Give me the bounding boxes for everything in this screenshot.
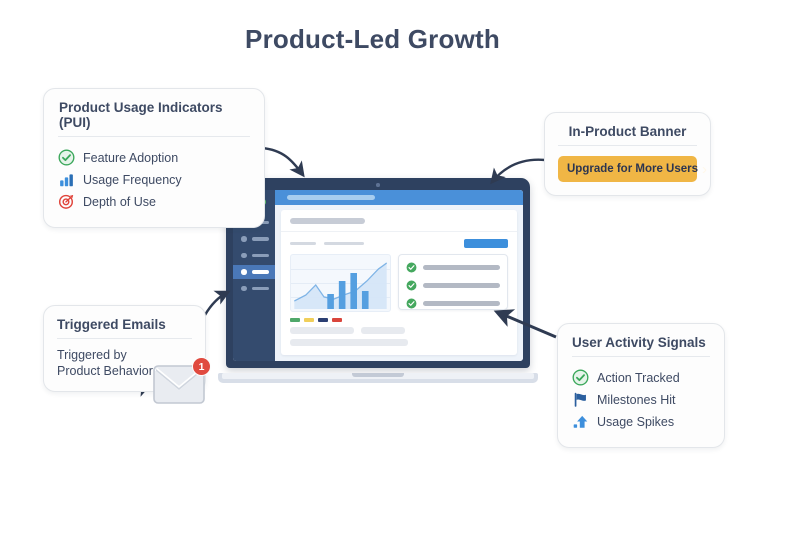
card-title: Product Usage Indicators (PUI) [58, 100, 250, 137]
pui-item-depth-of-use[interactable]: Depth of Use [58, 193, 250, 210]
card-title: Triggered Emails [57, 317, 192, 339]
nav-label-placeholder [252, 254, 270, 258]
checklist-text-placeholder [423, 283, 500, 288]
signal-item-action-tracked[interactable]: Action Tracked [572, 369, 710, 386]
chevron-right-icon: › [702, 161, 707, 178]
triggered-line-1: Triggered by [57, 347, 162, 363]
page-header [281, 210, 517, 232]
app-content [275, 190, 523, 361]
app-page [281, 210, 517, 355]
sidebar-item-2[interactable] [233, 232, 275, 246]
chart-bar-2 [339, 281, 346, 309]
page-footer-placeholders [281, 322, 517, 346]
signal-item-label: Action Tracked [597, 371, 680, 385]
laptop-base-notch [352, 373, 404, 377]
pui-item-usage-frequency[interactable]: Usage Frequency [58, 171, 250, 188]
checklist-panel [398, 254, 508, 310]
laptop-screen [233, 190, 523, 361]
nav-label-placeholder [252, 237, 270, 241]
nav-label-placeholder [252, 270, 270, 274]
check-circle-icon [58, 149, 75, 166]
chart-bar-1 [327, 294, 334, 309]
card-product-usage-indicators: Product Usage Indicators (PUI) Feature A… [43, 88, 265, 228]
sidebar-item-4-active[interactable] [233, 265, 275, 279]
footer-placeholder-1 [290, 327, 354, 334]
laptop-lid [226, 178, 530, 368]
arrow-up-icon [572, 413, 589, 430]
card-user-activity-signals: User Activity Signals Action Tracked Mil… [557, 323, 725, 448]
email-badge-count: 1 [192, 357, 211, 376]
nav-dot-icon [241, 236, 247, 242]
bar-chart-icon [58, 171, 75, 188]
sidebar-item-5[interactable] [233, 282, 275, 296]
card-in-product-banner: In-Product Banner Upgrade for More Users… [544, 112, 711, 196]
pui-item-label: Depth of Use [83, 195, 156, 209]
pui-item-label: Usage Frequency [83, 173, 182, 187]
chart-legend [281, 312, 517, 322]
chart-bar-3 [350, 273, 357, 309]
topbar-title-placeholder [287, 195, 375, 200]
breadcrumb-placeholder-1 [290, 242, 316, 246]
laptop-mockup [218, 178, 538, 383]
triggered-emails-description: Triggered by Product Behavior [57, 339, 162, 379]
check-circle-icon [572, 369, 589, 386]
upgrade-button-label: Upgrade for More Users [567, 163, 698, 175]
nav-label-placeholder [252, 287, 270, 291]
card-body: Feature Adoption Usage Frequency Depth o… [58, 137, 250, 210]
dashboard-panels [281, 252, 517, 312]
check-circle-icon [406, 298, 417, 309]
card-title: User Activity Signals [572, 335, 710, 357]
laptop-camera-icon [376, 183, 380, 187]
pui-item-feature-adoption[interactable]: Feature Adoption [58, 149, 250, 166]
checklist-item[interactable] [406, 262, 500, 273]
checklist-item[interactable] [406, 280, 500, 291]
checklist-item[interactable] [406, 298, 500, 309]
primary-action-button[interactable] [464, 239, 508, 248]
breadcrumb-placeholder-2 [324, 242, 364, 246]
checklist-text-placeholder [423, 301, 500, 306]
upgrade-for-more-users-button[interactable]: Upgrade for More Users › [558, 156, 697, 182]
arrow-pui-to-laptop [262, 148, 303, 175]
infographic-canvas: Product-Led Growth [0, 0, 800, 533]
checklist-text-placeholder [423, 265, 500, 270]
signal-item-label: Milestones Hit [597, 393, 676, 407]
signal-item-milestones-hit[interactable]: Milestones Hit [572, 391, 710, 408]
email-notification[interactable]: 1 [152, 362, 208, 408]
sidebar-item-3[interactable] [233, 249, 275, 263]
page-heading-placeholder [290, 218, 365, 224]
flag-icon [572, 391, 589, 408]
footer-placeholder-3 [290, 339, 408, 346]
analytics-chart [290, 254, 391, 312]
nav-dot-icon [241, 286, 247, 292]
page-title: Product-Led Growth [0, 24, 745, 55]
footer-placeholder-2 [361, 327, 405, 334]
page-subheader [281, 232, 517, 252]
triggered-line-2: Product Behavior [57, 363, 162, 379]
chart-bar-4 [362, 291, 369, 309]
signal-item-label: Usage Spikes [597, 415, 674, 429]
pui-item-label: Feature Adoption [83, 151, 178, 165]
card-body: Action Tracked Milestones Hit Usage Spik… [572, 357, 710, 430]
check-circle-icon [406, 280, 417, 291]
app-topbar [275, 190, 523, 205]
nav-dot-icon [241, 269, 247, 275]
nav-dot-icon [241, 253, 247, 259]
signal-item-usage-spikes[interactable]: Usage Spikes [572, 413, 710, 430]
target-icon [58, 193, 75, 210]
check-circle-icon [406, 262, 417, 273]
card-title: In-Product Banner [558, 124, 697, 146]
